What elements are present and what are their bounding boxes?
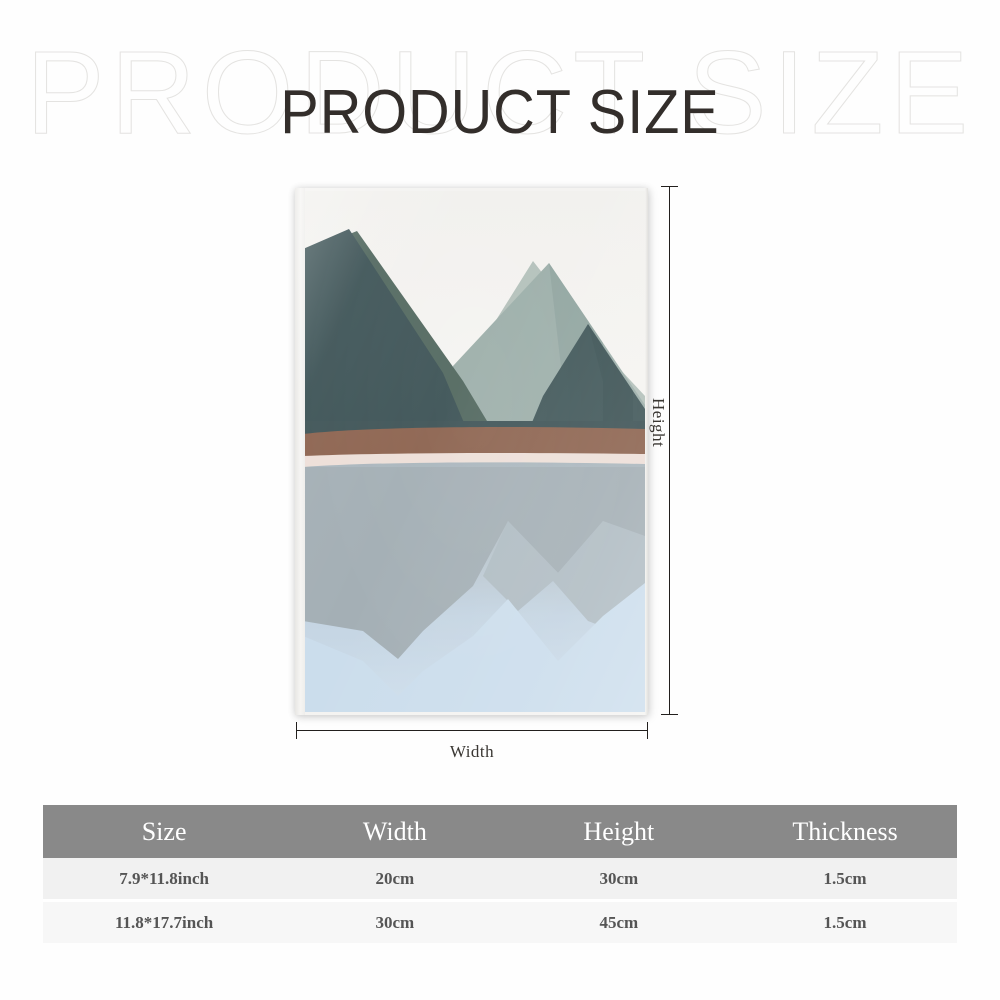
- table-row: 7.9*11.8inch 20cm 30cm 1.5cm: [43, 858, 957, 899]
- height-cap-bottom: [661, 714, 678, 715]
- cell-size: 11.8*17.7inch: [43, 902, 285, 943]
- table-header-row: Size Width Height Thickness: [43, 805, 957, 858]
- table-row: 11.8*17.7inch 30cm 45cm 1.5cm: [43, 902, 957, 943]
- cell-height: 30cm: [505, 858, 734, 899]
- cell-size: 7.9*11.8inch: [43, 858, 285, 899]
- size-table: Size Width Height Thickness 7.9*11.8inch…: [43, 805, 957, 943]
- cell-width: 30cm: [285, 902, 504, 943]
- title-area: PRODUCT SIZE PRODUCT SIZE: [0, 0, 1000, 175]
- product-book: [295, 188, 648, 715]
- book-cover-artwork: [303, 191, 645, 712]
- height-dimension-line: [669, 186, 670, 715]
- product-image-area: [280, 175, 680, 735]
- book-spine: [295, 188, 305, 715]
- artwork-texture-overlay: [303, 191, 645, 712]
- table-header-width: Width: [285, 805, 504, 858]
- width-dimension-line: [296, 730, 648, 731]
- table-header-thickness: Thickness: [733, 805, 957, 858]
- table-header-height: Height: [505, 805, 734, 858]
- width-cap-right: [647, 722, 648, 739]
- cell-height: 45cm: [505, 902, 734, 943]
- book-right-edge: [645, 188, 648, 715]
- table-header-size: Size: [43, 805, 285, 858]
- infographic-page: PRODUCT SIZE PRODUCT SIZE: [0, 0, 1000, 1000]
- width-dimension-label: Width: [296, 742, 648, 762]
- width-cap-left: [296, 722, 297, 739]
- cell-width: 20cm: [285, 858, 504, 899]
- cell-thickness: 1.5cm: [733, 902, 957, 943]
- height-cap-top: [661, 186, 678, 187]
- height-dimension-label: Height: [648, 398, 668, 447]
- cell-thickness: 1.5cm: [733, 858, 957, 899]
- page-title: PRODUCT SIZE: [35, 82, 965, 144]
